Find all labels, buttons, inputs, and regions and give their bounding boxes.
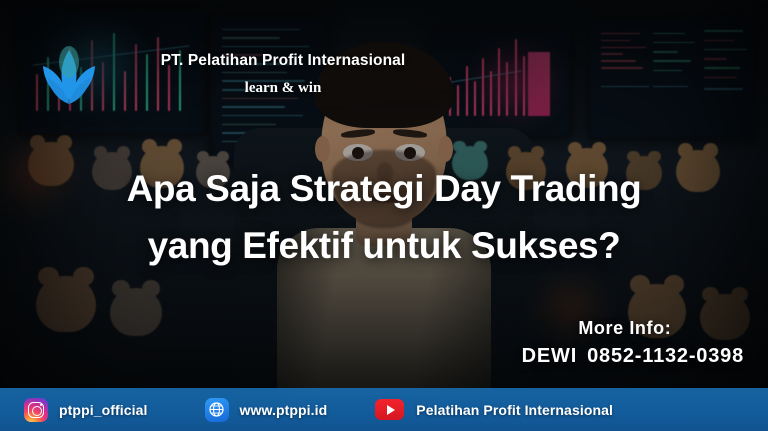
headline-line-2: yang Efektif untuk Sukses? bbox=[40, 217, 728, 274]
page-title: Apa Saja Strategi Day Trading yang Efekt… bbox=[0, 160, 768, 275]
youtube-channel: Pelatihan Profit Internasional bbox=[416, 402, 613, 418]
footer-bar: ptppi_official www.ptppi.id Pelatihan Pr bbox=[0, 388, 768, 431]
contact-block: More Info: DEWI0852-1132-0398 bbox=[522, 318, 744, 368]
instagram-handle: ptppi_official bbox=[59, 402, 148, 418]
brand-block: PT. Pelatihan Profit Internasional learn… bbox=[118, 52, 448, 97]
footer-item-youtube[interactable]: Pelatihan Profit Internasional bbox=[375, 399, 613, 420]
youtube-icon bbox=[375, 399, 404, 420]
lotus-flower-logo-icon bbox=[30, 40, 108, 124]
footer-item-website[interactable]: www.ptppi.id bbox=[205, 398, 328, 422]
globe-icon bbox=[205, 398, 229, 422]
contact-phone-line: DEWI0852-1132-0398 bbox=[522, 345, 744, 368]
brand-tagline: learn & win bbox=[118, 80, 448, 97]
company-name: PT. Pelatihan Profit Internasional bbox=[118, 52, 448, 70]
poster-content: PT. Pelatihan Profit Internasional learn… bbox=[0, 0, 768, 431]
instagram-icon bbox=[24, 398, 48, 422]
website-url: www.ptppi.id bbox=[240, 402, 328, 418]
contact-name: DEWI bbox=[522, 345, 577, 367]
headline-line-1: Apa Saja Strategi Day Trading bbox=[127, 168, 642, 209]
more-info-label: More Info: bbox=[522, 318, 744, 339]
phone-number: 0852-1132-0398 bbox=[587, 345, 744, 367]
footer-item-instagram[interactable]: ptppi_official bbox=[24, 398, 148, 422]
promo-poster: PT. Pelatihan Profit Internasional learn… bbox=[0, 0, 768, 431]
